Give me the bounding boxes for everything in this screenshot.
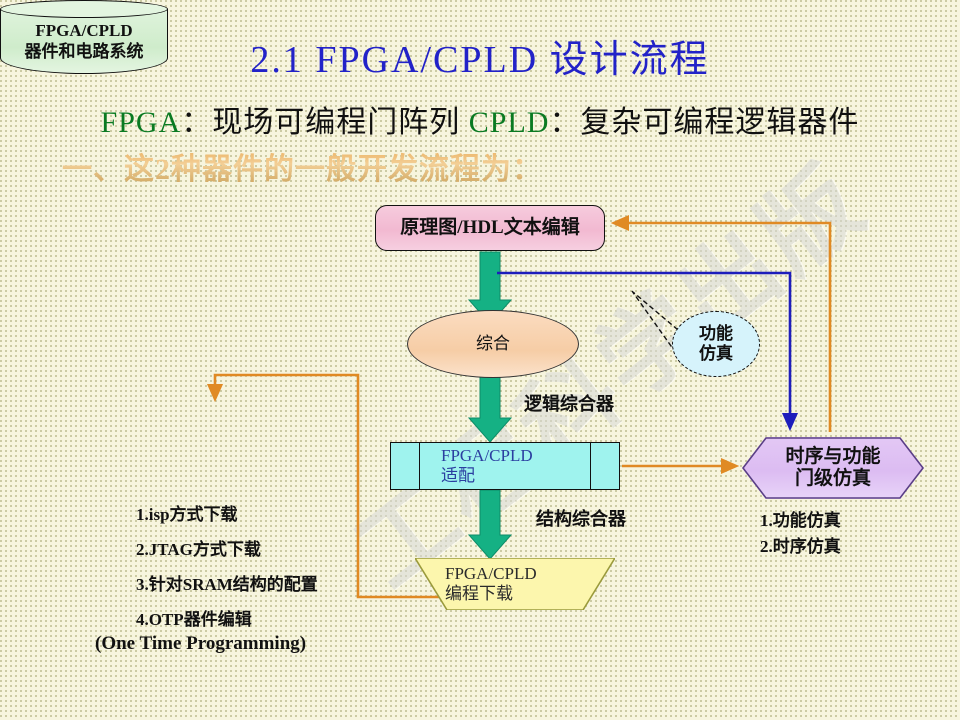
section-heading: 一、这2种器件的一般开发流程为： <box>62 144 543 188</box>
node-synthesis[interactable]: 综合 <box>407 310 579 378</box>
node-fpga-cpld-download[interactable]: FPGA/CPLD 编程下载 <box>415 558 615 610</box>
footnote-one-time-programming: (One Time Programming) <box>95 633 306 655</box>
label-structure-synthesizer: 结构综合器 <box>536 505 626 531</box>
node-fitting-label-1: FPGA/CPLD <box>441 446 533 466</box>
cylinder-top <box>0 0 168 18</box>
green-arrow-fit-to-download <box>469 490 511 559</box>
download-methods-list: 1.isp方式下载 2.JTAG方式下载 3.针对SRAM结构的配置 4.OTP… <box>136 498 318 637</box>
node-device-label-2: 器件和电路系统 <box>25 42 144 61</box>
node-device-labels: FPGA/CPLD 器件和电路系统 <box>0 20 168 63</box>
subtitle-cpld-text: ：复杂可编程逻辑器件 <box>549 106 859 139</box>
node-schematic-hdl-editor[interactable]: 原理图/HDL文本编辑 <box>375 205 605 251</box>
download-list-item: 1.isp方式下载 <box>136 498 318 533</box>
node-download-label-1: FPGA/CPLD <box>445 564 537 584</box>
process-bar-left <box>419 443 420 489</box>
callout-label-2: 仿真 <box>699 344 733 364</box>
gatesim-list: 1.功能仿真 2.时序仿真 <box>760 508 841 561</box>
label-logic-synthesizer: 逻辑综合器 <box>524 390 614 416</box>
gatesim-list-item: 1.功能仿真 <box>760 508 841 534</box>
callout-label-1: 功能 <box>699 324 733 344</box>
node-gatesim-label-2: 门级仿真 <box>795 468 871 490</box>
callout-function-simulation[interactable]: 功能 仿真 <box>672 311 760 377</box>
green-arrow-synth-to-fit <box>469 375 511 442</box>
subtitle-fpga-abbr: FPGA <box>101 106 182 139</box>
download-list-item: 2.JTAG方式下载 <box>136 533 318 568</box>
node-synthesis-label: 综合 <box>476 334 510 354</box>
gatesim-list-item: 2.时序仿真 <box>760 534 841 560</box>
slide-canvas: 工程科学出版 2.1 FPGA/CPLD 设计流程 FPGA：现场可编程门阵列 … <box>0 0 960 720</box>
node-schematic-hdl-editor-label: 原理图/HDL文本编辑 <box>400 217 579 239</box>
subtitle-fpga-text: ：现场可编程门阵列 <box>181 106 469 139</box>
node-gatesim-label-1: 时序与功能 <box>785 446 880 468</box>
node-device-label-1: FPGA/CPLD <box>35 21 132 40</box>
node-fitting-label-2: 适配 <box>441 466 475 486</box>
node-download-label-2: 编程下载 <box>445 584 513 604</box>
process-bar-right <box>590 443 591 489</box>
download-list-item: 3.针对SRAM结构的配置 <box>136 568 318 603</box>
subtitle-cpld-abbr: CPLD <box>469 106 550 139</box>
subtitle: FPGA：现场可编程门阵列 CPLD：复杂可编程逻辑器件 <box>0 97 960 141</box>
node-fpga-cpld-fitting[interactable]: FPGA/CPLD 适配 <box>390 442 620 490</box>
node-timing-function-gate-sim[interactable]: 时序与功能 门级仿真 <box>742 437 924 499</box>
